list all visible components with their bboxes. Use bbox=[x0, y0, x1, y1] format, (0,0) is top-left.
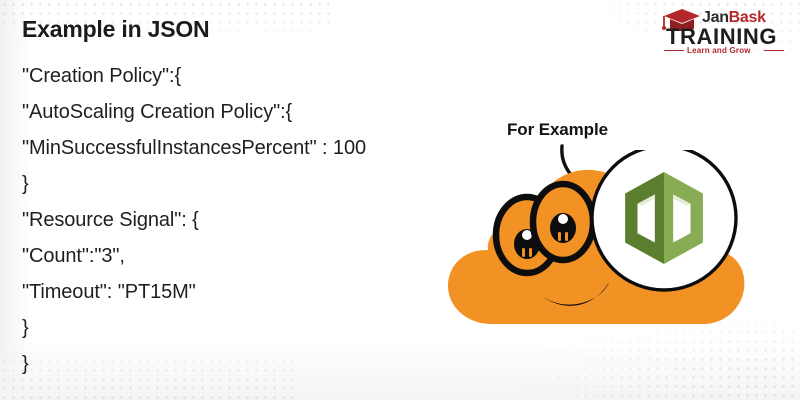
json-line: "AutoScaling Creation Policy":{ bbox=[22, 94, 482, 130]
json-line: "Resource Signal": { bbox=[22, 202, 482, 238]
aws-cloudformation-badge bbox=[592, 150, 736, 290]
page-title: Example in JSON bbox=[22, 16, 209, 43]
logo-tagline: Learn and Grow bbox=[687, 46, 751, 55]
json-code-block: "Creation Policy":{ "AutoScaling Creatio… bbox=[22, 58, 482, 382]
cloud-mascot-artwork bbox=[430, 150, 800, 400]
json-line: } bbox=[22, 310, 482, 346]
json-line: } bbox=[22, 346, 482, 382]
logo-rule-left bbox=[664, 50, 684, 51]
json-line: } bbox=[22, 166, 482, 202]
mascot-right-eye bbox=[533, 184, 593, 260]
json-line: "Count":"3", bbox=[22, 238, 482, 274]
logo-rule-right bbox=[764, 50, 784, 51]
json-line: "Creation Policy":{ bbox=[22, 58, 482, 94]
json-line: "MinSuccessfulInstancesPercent" : 100 bbox=[22, 130, 482, 166]
for-example-label: For Example bbox=[507, 120, 608, 140]
brand-logo: JanBask TRAINING Learn and Grow bbox=[660, 8, 786, 58]
json-line: "Timeout": "PT15M" bbox=[22, 274, 482, 310]
slide-canvas: Example in JSON "Creation Policy":{ "Aut… bbox=[0, 0, 800, 400]
